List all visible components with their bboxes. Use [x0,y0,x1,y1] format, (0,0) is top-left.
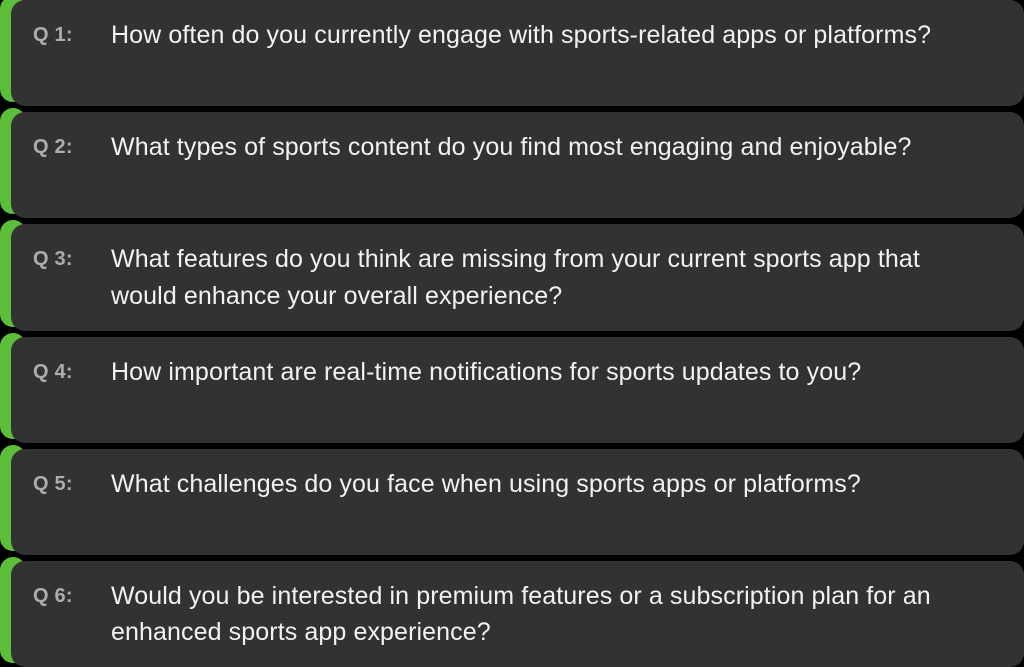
list-item[interactable]: Q 5: What challenges do you face when us… [0,449,1024,555]
question-number-label: Q 4: [33,354,111,386]
question-text: How important are real-time notification… [111,354,941,391]
question-text: How often do you currently engage with s… [111,17,941,54]
question-number-label: Q 5: [33,466,111,498]
question-card[interactable]: Q 2: What types of sports content do you… [11,112,1024,218]
list-item[interactable]: Q 6: Would you be interested in premium … [0,561,1024,667]
question-text: Would you be interested in premium featu… [111,578,941,651]
list-item[interactable]: Q 3: What features do you think are miss… [0,224,1024,330]
question-card[interactable]: Q 5: What challenges do you face when us… [11,449,1024,555]
question-text: What features do you think are missing f… [111,241,941,314]
question-text: What types of sports content do you find… [111,129,941,166]
question-card[interactable]: Q 6: Would you be interested in premium … [11,561,1024,667]
question-number-label: Q 1: [33,17,111,49]
question-card[interactable]: Q 4: How important are real-time notific… [11,337,1024,443]
question-card[interactable]: Q 1: How often do you currently engage w… [11,0,1024,106]
question-number-label: Q 2: [33,129,111,161]
question-list: Q 1: How often do you currently engage w… [0,0,1024,667]
list-item[interactable]: Q 2: What types of sports content do you… [0,112,1024,218]
question-card[interactable]: Q 3: What features do you think are miss… [11,224,1024,330]
question-text: What challenges do you face when using s… [111,466,941,503]
question-number-label: Q 3: [33,241,111,273]
list-item[interactable]: Q 4: How important are real-time notific… [0,337,1024,443]
question-number-label: Q 6: [33,578,111,610]
list-item[interactable]: Q 1: How often do you currently engage w… [0,0,1024,106]
